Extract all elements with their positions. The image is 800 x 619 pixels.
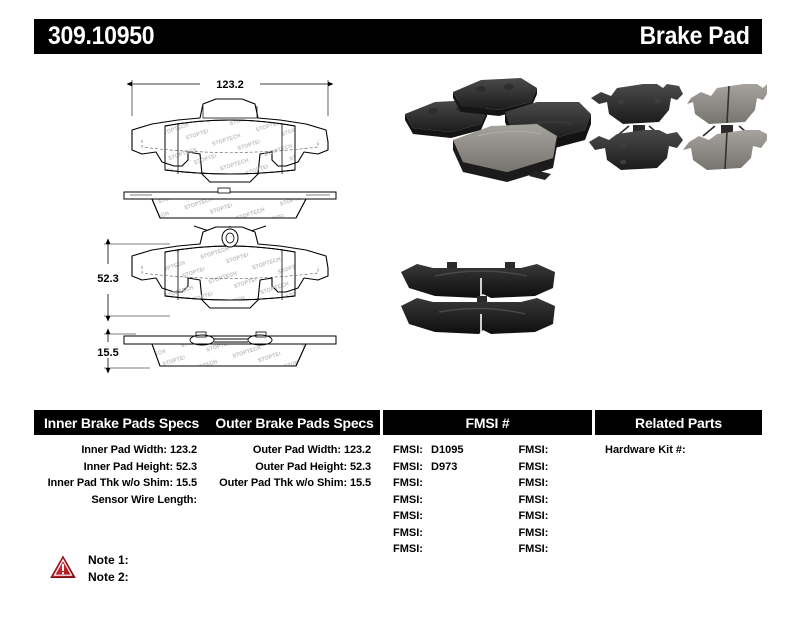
fmsi-row: FMSI: [393, 508, 463, 525]
fmsi-value [423, 527, 428, 539]
view-top-face [132, 99, 328, 182]
photo-edge-pair [401, 262, 555, 334]
fmsi-row: FMSI: [518, 492, 553, 509]
fmsi-row: FMSI: [518, 459, 553, 476]
spec-label: Inner Pad Height: [84, 461, 173, 473]
fmsi-label: FMSI: [518, 527, 548, 539]
fmsi-label: FMSI: [518, 444, 548, 456]
fmsi-value [548, 543, 553, 555]
fmsi-label: FMSI: [393, 510, 423, 522]
warning-triangle-icon [50, 555, 76, 579]
header-fmsi: FMSI # [383, 410, 592, 435]
fmsi-row: FMSI: [518, 525, 553, 542]
fmsi-label: FMSI: [518, 510, 548, 522]
fmsi-value [548, 444, 553, 456]
fmsi-row: FMSI: D973 [393, 459, 463, 476]
fmsi-label: FMSI: [518, 461, 548, 473]
column-fmsi: FMSI: D1095 FMSI: D973 FMSI: FMSI: [383, 442, 595, 558]
spec-label: Outer Pad Height: [255, 461, 347, 473]
spec-row: Inner Pad Height: 52.3 [34, 459, 209, 476]
fmsi-row: FMSI: [518, 442, 553, 459]
fmsi-value: D1095 [426, 444, 463, 456]
photo-angled-set [405, 78, 591, 182]
fmsi-value [548, 510, 553, 522]
fmsi-value [423, 510, 428, 522]
fmsi-label: FMSI: [393, 477, 423, 489]
table-header-row: Inner Brake Pads Specs Outer Brake Pads … [34, 410, 762, 435]
table-body-row: Inner Pad Width: 123.2 Inner Pad Height:… [34, 435, 762, 558]
spec-row: Outer Pad Width: 123.2 [209, 442, 383, 459]
dimension-thickness-label: 15.5 [97, 347, 118, 359]
spec-value: 52.3 [350, 461, 371, 473]
fmsi-label: FMSI: [393, 444, 423, 456]
column-related-parts: Hardware Kit #: [595, 442, 762, 558]
note-item: Note 1: [88, 552, 129, 569]
dimension-height-label: 52.3 [97, 273, 118, 285]
fmsi-value [548, 461, 553, 473]
fmsi-value [548, 477, 553, 489]
header-outer-specs: Outer Brake Pads Specs [209, 410, 380, 435]
dimension-width-label: 123.2 [216, 79, 244, 91]
spec-row: Inner Pad Thk w/o Shim: 15.5 [34, 475, 209, 492]
fmsi-value [423, 477, 428, 489]
related-part-row: Hardware Kit #: [595, 442, 762, 459]
fmsi-row: FMSI: [518, 541, 553, 558]
specifications-table: Inner Brake Pads Specs Outer Brake Pads … [34, 410, 762, 558]
product-type: Brake Pad [640, 22, 750, 51]
fmsi-row: FMSI: [518, 508, 553, 525]
spec-row: Sensor Wire Length: [34, 492, 209, 509]
fmsi-value [548, 527, 553, 539]
spec-label: Inner Pad Thk w/o Shim: [48, 477, 173, 489]
fmsi-row: FMSI: [518, 475, 553, 492]
spec-value: 52.3 [176, 461, 197, 473]
part-number: 309.10950 [48, 22, 154, 51]
technical-drawing: STOPTECH STOPTECH 123.2 [90, 66, 390, 386]
note-item: Note 2: [88, 569, 129, 586]
related-part-label: Hardware Kit #: [605, 444, 686, 456]
fmsi-label: FMSI: [518, 494, 548, 506]
photo-flat-set [589, 84, 767, 170]
header-inner-specs: Inner Brake Pads Specs [34, 410, 209, 435]
spec-label: Sensor Wire Length: [91, 494, 197, 506]
fmsi-label: FMSI: [518, 543, 548, 555]
view-front-face [132, 227, 328, 308]
spec-row: Outer Pad Height: 52.3 [209, 459, 383, 476]
fmsi-label: FMSI: [393, 543, 423, 555]
spec-label: Outer Pad Thk w/o Shim: [219, 477, 347, 489]
column-inner-specs: Inner Pad Width: 123.2 Inner Pad Height:… [34, 442, 209, 558]
spec-label: Inner Pad Width: [81, 444, 167, 456]
fmsi-row: FMSI: [393, 492, 463, 509]
fmsi-label: FMSI: [518, 477, 548, 489]
spec-row: Inner Pad Width: 123.2 [34, 442, 209, 459]
spec-value: 15.5 [350, 477, 371, 489]
fmsi-label: FMSI: [393, 494, 423, 506]
product-photos [395, 66, 770, 386]
fmsi-value [423, 494, 428, 506]
spec-value: 123.2 [170, 444, 197, 456]
fmsi-row: FMSI: D1095 [393, 442, 463, 459]
spec-value: 15.5 [176, 477, 197, 489]
notes-section: Note 1: Note 2: [50, 552, 129, 586]
fmsi-row: FMSI: [393, 541, 463, 558]
spec-row: Outer Pad Thk w/o Shim: 15.5 [209, 475, 383, 492]
view-edge-lower [124, 332, 336, 366]
fmsi-label: FMSI: [393, 527, 423, 539]
note-list: Note 1: Note 2: [88, 552, 129, 586]
fmsi-label: FMSI: [393, 461, 423, 473]
fmsi-value [548, 494, 553, 506]
spec-label: Outer Pad Width: [253, 444, 341, 456]
fmsi-value: D973 [426, 461, 457, 473]
fmsi-row: FMSI: [393, 475, 463, 492]
column-outer-specs: Outer Pad Width: 123.2 Outer Pad Height:… [209, 442, 383, 558]
fmsi-value [423, 543, 428, 555]
spec-value: 123.2 [344, 444, 371, 456]
fmsi-row: FMSI: [393, 525, 463, 542]
header-related-parts: Related Parts [595, 410, 762, 435]
fmsi-sublist-1: FMSI: D1095 FMSI: D973 FMSI: FMSI: [383, 442, 463, 558]
fmsi-sublist-2: FMSI: FMSI: FMSI: FMSI: [463, 442, 553, 558]
title-bar: 309.10950 Brake Pad [34, 19, 762, 54]
